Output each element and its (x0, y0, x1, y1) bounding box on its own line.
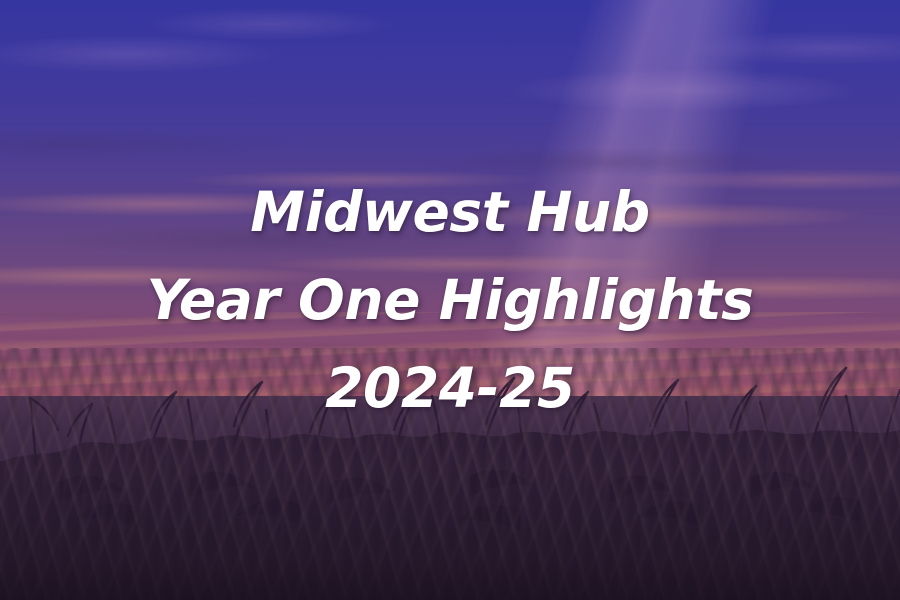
title-slide: Midwest Hub Year One Highlights 2024-25 (0, 0, 900, 600)
title-line-3: 2024-25 (0, 344, 900, 432)
title-line-2: Year One Highlights (0, 256, 900, 344)
field-bottom-shade (0, 468, 900, 600)
title-line-1: Midwest Hub (0, 168, 900, 256)
slide-title: Midwest Hub Year One Highlights 2024-25 (0, 168, 900, 432)
